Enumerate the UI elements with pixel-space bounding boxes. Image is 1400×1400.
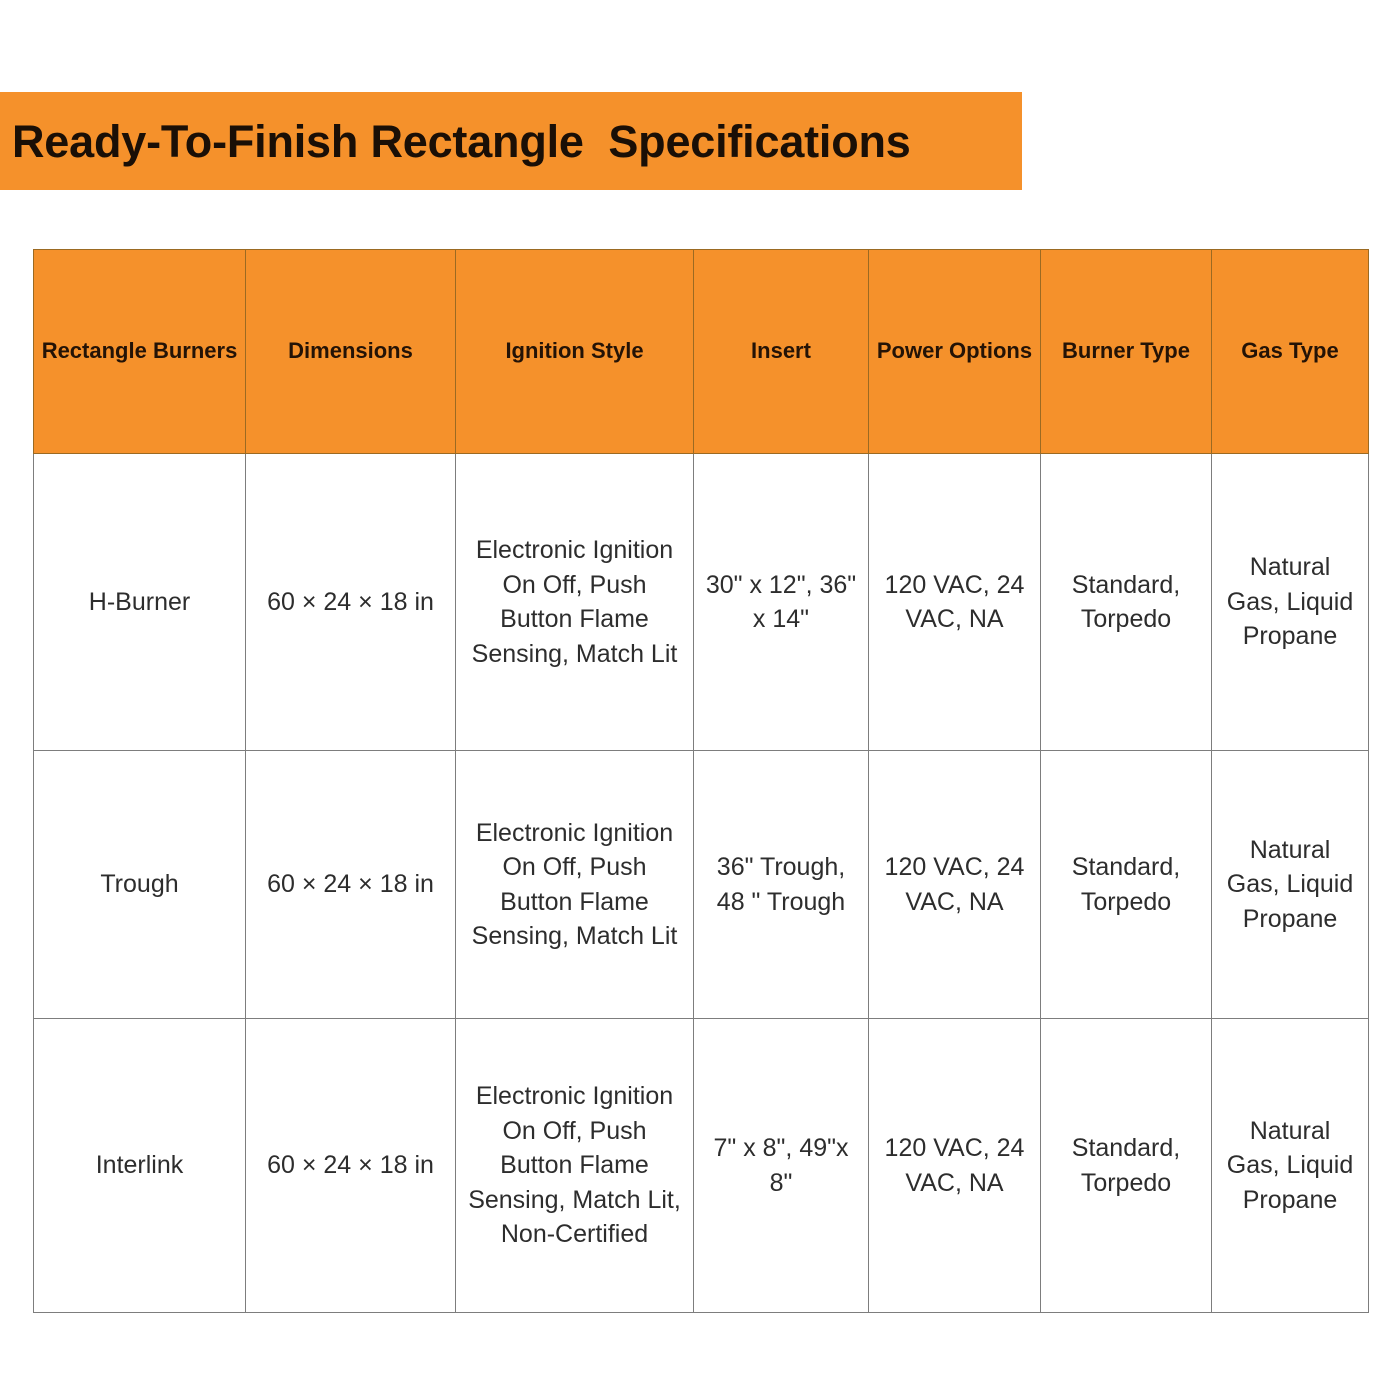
cell-insert: 30" x 12", 36" x 14" <box>694 454 869 751</box>
column-header-burner-type: Burner Type <box>1041 250 1212 454</box>
specifications-table-container: Rectangle Burners Dimensions Ignition St… <box>33 249 1368 1313</box>
cell-dimensions: 60 × 24 × 18 in <box>246 751 456 1019</box>
specifications-table: Rectangle Burners Dimensions Ignition St… <box>33 249 1369 1313</box>
cell-gas-type: Natural Gas, Liquid Propane <box>1212 454 1369 751</box>
cell-dimensions: 60 × 24 × 18 in <box>246 454 456 751</box>
column-header-insert: Insert <box>694 250 869 454</box>
column-header-dimensions: Dimensions <box>246 250 456 454</box>
cell-burner: H-Burner <box>34 454 246 751</box>
cell-burner-type: Standard, Torpedo <box>1041 454 1212 751</box>
table-header: Rectangle Burners Dimensions Ignition St… <box>34 250 1369 454</box>
cell-gas-type: Natural Gas, Liquid Propane <box>1212 751 1369 1019</box>
table-header-row: Rectangle Burners Dimensions Ignition St… <box>34 250 1369 454</box>
cell-ignition-style: Electronic Ignition On Off, Push Button … <box>456 454 694 751</box>
cell-power-options: 120 VAC, 24 VAC, NA <box>869 1019 1041 1313</box>
cell-burner-type: Standard, Torpedo <box>1041 751 1212 1019</box>
cell-dimensions: 60 × 24 × 18 in <box>246 1019 456 1313</box>
cell-insert: 36" Trough, 48 " Trough <box>694 751 869 1019</box>
table-row: Interlink 60 × 24 × 18 in Electronic Ign… <box>34 1019 1369 1313</box>
cell-burner-type: Standard, Torpedo <box>1041 1019 1212 1313</box>
column-header-gas-type: Gas Type <box>1212 250 1369 454</box>
cell-power-options: 120 VAC, 24 VAC, NA <box>869 454 1041 751</box>
column-header-rectangle-burners: Rectangle Burners <box>34 250 246 454</box>
table-row: H-Burner 60 × 24 × 18 in Electronic Igni… <box>34 454 1369 751</box>
cell-insert: 7" x 8", 49"x 8" <box>694 1019 869 1313</box>
cell-ignition-style: Electronic Ignition On Off, Push Button … <box>456 751 694 1019</box>
cell-burner: Interlink <box>34 1019 246 1313</box>
cell-burner: Trough <box>34 751 246 1019</box>
cell-gas-type: Natural Gas, Liquid Propane <box>1212 1019 1369 1313</box>
cell-power-options: 120 VAC, 24 VAC, NA <box>869 751 1041 1019</box>
cell-ignition-style: Electronic Ignition On Off, Push Button … <box>456 1019 694 1313</box>
page-title: Ready-To-Finish Rectangle Specifications <box>12 119 911 164</box>
column-header-power-options: Power Options <box>869 250 1041 454</box>
table-row: Trough 60 × 24 × 18 in Electronic Igniti… <box>34 751 1369 1019</box>
table-body: H-Burner 60 × 24 × 18 in Electronic Igni… <box>34 454 1369 1313</box>
column-header-ignition-style: Ignition Style <box>456 250 694 454</box>
title-banner: Ready-To-Finish Rectangle Specifications <box>0 92 1022 190</box>
